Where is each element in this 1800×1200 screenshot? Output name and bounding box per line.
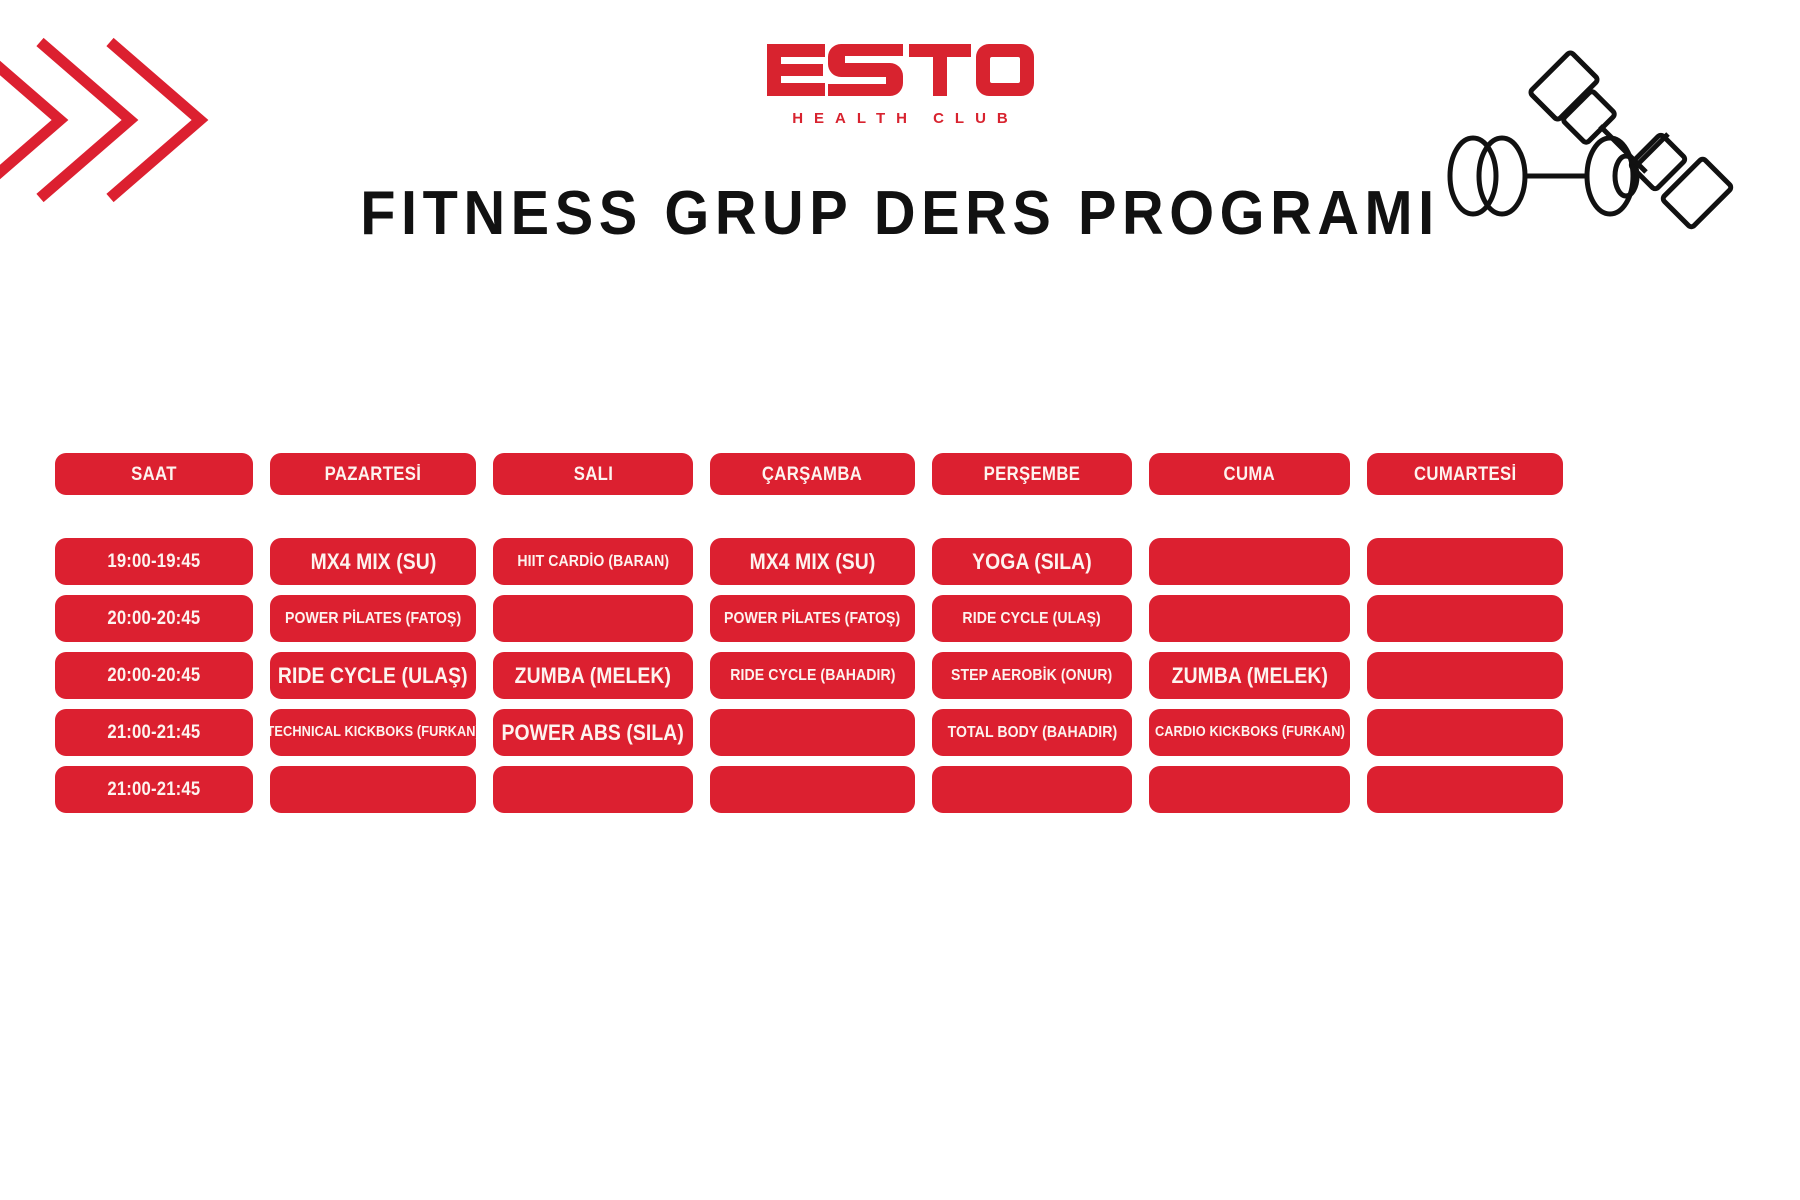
column-header-cumartesi: CUMARTESİ xyxy=(1367,453,1563,495)
class-cell[interactable]: RIDE CYCLE (ULAŞ) xyxy=(932,595,1132,642)
class-cell[interactable]: POWER ABS (SILA) xyxy=(493,709,693,756)
class-cell-empty[interactable] xyxy=(1367,652,1563,699)
class-cell-empty[interactable] xyxy=(932,766,1132,813)
class-cell[interactable]: ZUMBA (MELEK) xyxy=(493,652,693,699)
class-cell[interactable]: CARDIO KICKBOKS (FURKAN) xyxy=(1149,709,1350,756)
time-slot: 20:00-20:45 xyxy=(55,595,253,642)
class-cell[interactable]: ZUMBA (MELEK) xyxy=(1149,652,1350,699)
class-cell-empty[interactable] xyxy=(1149,538,1350,585)
column-header-cuma: CUMA xyxy=(1149,453,1350,495)
class-cell-empty[interactable] xyxy=(270,766,476,813)
time-slot: 21:00-21:45 xyxy=(55,766,253,813)
column-header-carsamba: ÇARŞAMBA xyxy=(710,453,915,495)
brand-wordmark-esto xyxy=(765,38,1035,104)
class-cell[interactable]: STEP AEROBİK (ONUR) xyxy=(932,652,1132,699)
time-slot: 19:00-19:45 xyxy=(55,538,253,585)
table-row: 20:00-20:45 POWER PİLATES (FATOŞ) POWER … xyxy=(55,595,1745,642)
class-cell[interactable]: MX4 MIX (SU) xyxy=(710,538,915,585)
table-row: 21:00-21:45 xyxy=(55,766,1745,813)
column-header-sali: SALI xyxy=(493,453,693,495)
class-cell-empty[interactable] xyxy=(1367,595,1563,642)
column-header-saat: SAAT xyxy=(55,453,253,495)
table-row: 19:00-19:45 MX4 MIX (SU) HIIT CARDİO (BA… xyxy=(55,538,1745,585)
class-cell-empty[interactable] xyxy=(710,709,915,756)
class-cell-empty[interactable] xyxy=(1367,538,1563,585)
class-cell[interactable]: RIDE CYCLE (ULAŞ) xyxy=(270,652,476,699)
class-cell-empty[interactable] xyxy=(1149,766,1350,813)
class-cell[interactable]: HIIT CARDİO (BARAN) xyxy=(493,538,693,585)
class-cell[interactable]: POWER PİLATES (FATOŞ) xyxy=(270,595,476,642)
column-header-persembe: PERŞEMBE xyxy=(932,453,1132,495)
class-cell[interactable]: MX4 MIX (SU) xyxy=(270,538,476,585)
class-cell-empty[interactable] xyxy=(710,766,915,813)
table-row: 20:00-20:45 RIDE CYCLE (ULAŞ) ZUMBA (MEL… xyxy=(55,652,1745,699)
column-header-pazartesi: PAZARTESİ xyxy=(270,453,476,495)
class-cell-empty[interactable] xyxy=(1367,766,1563,813)
class-cell-empty[interactable] xyxy=(1149,595,1350,642)
schedule-table: SAAT PAZARTESİ SALI ÇARŞAMBA PERŞEMBE CU… xyxy=(55,453,1745,823)
class-cell[interactable]: RIDE CYCLE (BAHADIR) xyxy=(710,652,915,699)
schedule-header-row: SAAT PAZARTESİ SALI ÇARŞAMBA PERŞEMBE CU… xyxy=(55,453,1745,495)
time-slot: 20:00-20:45 xyxy=(55,652,253,699)
class-cell-empty[interactable] xyxy=(1367,709,1563,756)
table-row: 21:00-21:45 TECHNICAL KICKBOKS (FURKAN) … xyxy=(55,709,1745,756)
time-slot: 21:00-21:45 xyxy=(55,709,253,756)
class-cell[interactable]: POWER PİLATES (FATOŞ) xyxy=(710,595,915,642)
class-cell[interactable]: TOTAL BODY (BAHADIR) xyxy=(932,709,1132,756)
class-cell-empty[interactable] xyxy=(493,766,693,813)
class-cell-empty[interactable] xyxy=(493,595,693,642)
class-cell[interactable]: TECHNICAL KICKBOKS (FURKAN) xyxy=(270,709,476,756)
class-cell[interactable]: YOGA (SILA) xyxy=(932,538,1132,585)
page-title: FITNESS GRUP DERS PROGRAMI xyxy=(63,178,1737,249)
